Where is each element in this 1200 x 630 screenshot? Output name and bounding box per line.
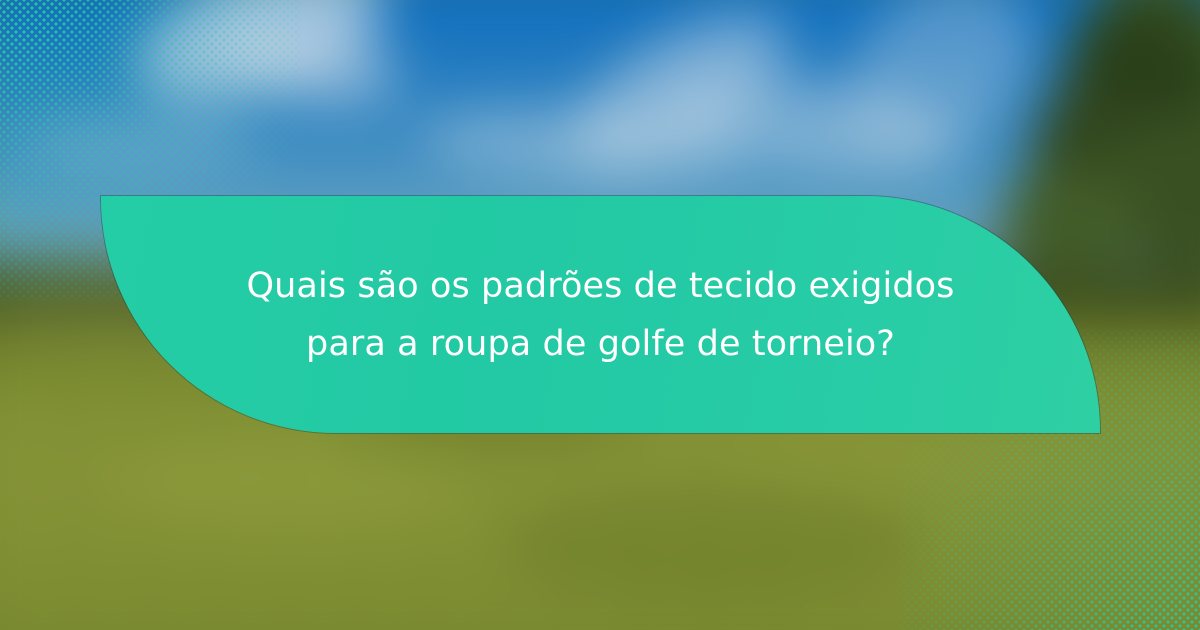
social-question-card: Quais são os padrões de tecido exigidos …	[0, 0, 1200, 630]
question-text: Quais são os padrões de tecido exigidos …	[206, 257, 996, 373]
question-banner: Quais são os padrões de tecido exigidos …	[101, 196, 1100, 433]
